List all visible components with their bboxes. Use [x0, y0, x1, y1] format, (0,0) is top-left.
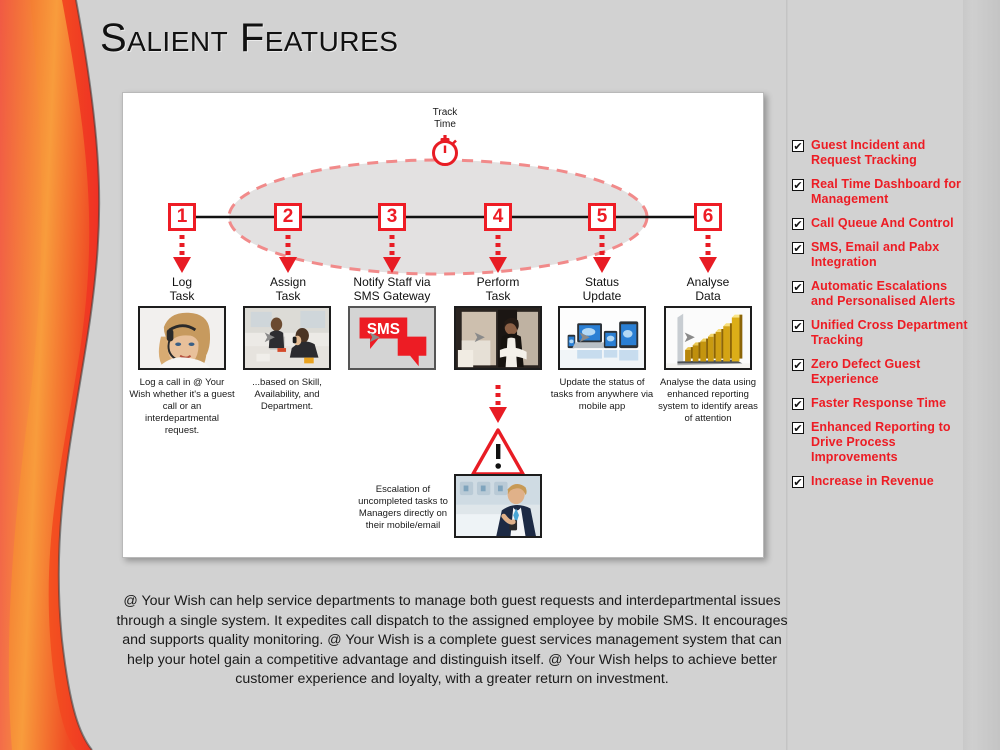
- thumbnail-manager-with-phone-photo[interactable]: [454, 474, 542, 538]
- checkbox-checked-icon[interactable]: ✔: [792, 281, 804, 293]
- thumbnail-office-staff-photo[interactable]: [243, 306, 331, 370]
- caption-step-6: Analyse the data using enhanced reportin…: [654, 377, 762, 425]
- checklist-item-label: Unified Cross Department Tracking: [811, 318, 970, 348]
- checklist-item[interactable]: ✔ Guest Incident and Request Tracking: [792, 138, 970, 168]
- checklist-item-label: Automatic Escalations and Personalised A…: [811, 279, 970, 309]
- checkbox-checked-icon[interactable]: ✔: [792, 359, 804, 371]
- left-swoosh-decoration: [0, 0, 120, 750]
- step-box-1[interactable]: 1: [168, 203, 196, 231]
- step-label-2-line2: Task: [228, 289, 348, 303]
- step-label-1-line2: Task: [122, 289, 242, 303]
- checklist-item-label: Guest Incident and Request Tracking: [811, 138, 970, 168]
- step-label-4-line2: Task: [438, 289, 558, 303]
- thumbnail-call-center-agent-photo[interactable]: [138, 306, 226, 370]
- step-label-6-line1: Analyse: [648, 275, 768, 289]
- track-time-label: Track Time: [415, 107, 475, 131]
- chevron-right-icon-5: ➤: [683, 328, 696, 346]
- step-label-4-line1: Perform: [438, 275, 558, 289]
- checkbox-checked-icon[interactable]: ✔: [792, 476, 804, 488]
- step-label-1: Log Task: [122, 275, 242, 303]
- caption-escalation: Escalation of uncompleted tasks to Manag…: [355, 484, 451, 532]
- diagram-panel: Track Time 1 2 3 4 5 6 Log Task Assign T…: [122, 92, 764, 558]
- step-box-5[interactable]: 5: [588, 203, 616, 231]
- checklist-item-label: Zero Defect Guest Experience: [811, 357, 970, 387]
- checklist-item[interactable]: ✔ SMS, Email and Pabx Integration: [792, 240, 970, 270]
- checklist-item[interactable]: ✔ Zero Defect Guest Experience: [792, 357, 970, 387]
- thumbnail-bar-chart-photo[interactable]: [664, 306, 752, 370]
- thumbnail-sms-bubbles-icon[interactable]: SMS: [348, 306, 436, 370]
- checkbox-checked-icon[interactable]: ✔: [792, 140, 804, 152]
- process-flow: Track Time 1 2 3 4 5 6 Log Task Assign T…: [123, 93, 765, 559]
- checklist-item[interactable]: ✔ Call Queue And Control: [792, 216, 970, 231]
- step-box-6[interactable]: 6: [694, 203, 722, 231]
- slide-canvas: Salient Features: [0, 0, 1000, 750]
- checklist-item[interactable]: ✔ Real Time Dashboard for Management: [792, 177, 970, 207]
- warning-triangle-icon: [473, 430, 523, 474]
- step-box-2[interactable]: 2: [274, 203, 302, 231]
- checkbox-checked-icon[interactable]: ✔: [792, 242, 804, 254]
- caption-step-5: Update the status of tasks from anywhere…: [548, 377, 656, 413]
- track-time-line-2: Time: [415, 119, 475, 131]
- step-label-3: Notify Staff via SMS Gateway: [332, 275, 452, 303]
- checklist-item[interactable]: ✔ Faster Response Time: [792, 396, 970, 411]
- stopwatch-icon: [434, 135, 457, 165]
- caption-step-1: Log a call in @ Your Wish whether it's a…: [128, 377, 236, 437]
- features-checklist: ✔ Guest Incident and Request Tracking ✔ …: [792, 138, 970, 498]
- checkbox-checked-icon[interactable]: ✔: [792, 398, 804, 410]
- chevron-right-icon-4: ➤: [578, 328, 591, 346]
- step-label-4: Perform Task: [438, 275, 558, 303]
- step-label-5-line1: Status: [542, 275, 662, 289]
- checklist-item-label: Enhanced Reporting to Drive Process Impr…: [811, 420, 970, 465]
- checklist-item-label: Faster Response Time: [811, 396, 946, 411]
- step-box-4[interactable]: 4: [484, 203, 512, 231]
- page-title: Salient Features: [100, 16, 398, 61]
- caption-step-2: ...based on Skill, Availability, and Dep…: [233, 377, 341, 413]
- step-label-2-line1: Assign: [228, 275, 348, 289]
- step-label-3-line1: Notify Staff via: [332, 275, 452, 289]
- step-label-6: Analyse Data: [648, 275, 768, 303]
- checkbox-checked-icon[interactable]: ✔: [792, 422, 804, 434]
- checklist-item[interactable]: ✔ Unified Cross Department Tracking: [792, 318, 970, 348]
- chevron-right-icon-1: ➤: [263, 328, 276, 346]
- step-box-3[interactable]: 3: [378, 203, 406, 231]
- checkbox-checked-icon[interactable]: ✔: [792, 320, 804, 332]
- checklist-item[interactable]: ✔ Increase in Revenue: [792, 474, 970, 489]
- checklist-item-label: SMS, Email and Pabx Integration: [811, 240, 970, 270]
- checklist-item[interactable]: ✔ Automatic Escalations and Personalised…: [792, 279, 970, 309]
- checkbox-checked-icon[interactable]: ✔: [792, 218, 804, 230]
- step-label-1-line1: Log: [122, 275, 242, 289]
- step-label-3-line2: SMS Gateway: [332, 289, 452, 303]
- step-label-5: Status Update: [542, 275, 662, 303]
- thumbnail-housekeeping-staff-photo[interactable]: [454, 306, 542, 370]
- step-label-5-line2: Update: [542, 289, 662, 303]
- step-label-2: Assign Task: [228, 275, 348, 303]
- summary-paragraph: @ Your Wish can help service departments…: [108, 592, 796, 690]
- checklist-item[interactable]: ✔ Enhanced Reporting to Drive Process Im…: [792, 420, 970, 465]
- thumbnail-multi-device-dashboard-photo[interactable]: [558, 306, 646, 370]
- chevron-right-icon-2: ➤: [368, 328, 381, 346]
- track-time-line-1: Track: [415, 107, 475, 119]
- checkbox-checked-icon[interactable]: ✔: [792, 179, 804, 191]
- checklist-item-label: Call Queue And Control: [811, 216, 954, 231]
- chevron-right-icon-3: ➤: [473, 328, 486, 346]
- checklist-item-label: Increase in Revenue: [811, 474, 934, 489]
- checklist-item-label: Real Time Dashboard for Management: [811, 177, 970, 207]
- step-label-6-line2: Data: [648, 289, 768, 303]
